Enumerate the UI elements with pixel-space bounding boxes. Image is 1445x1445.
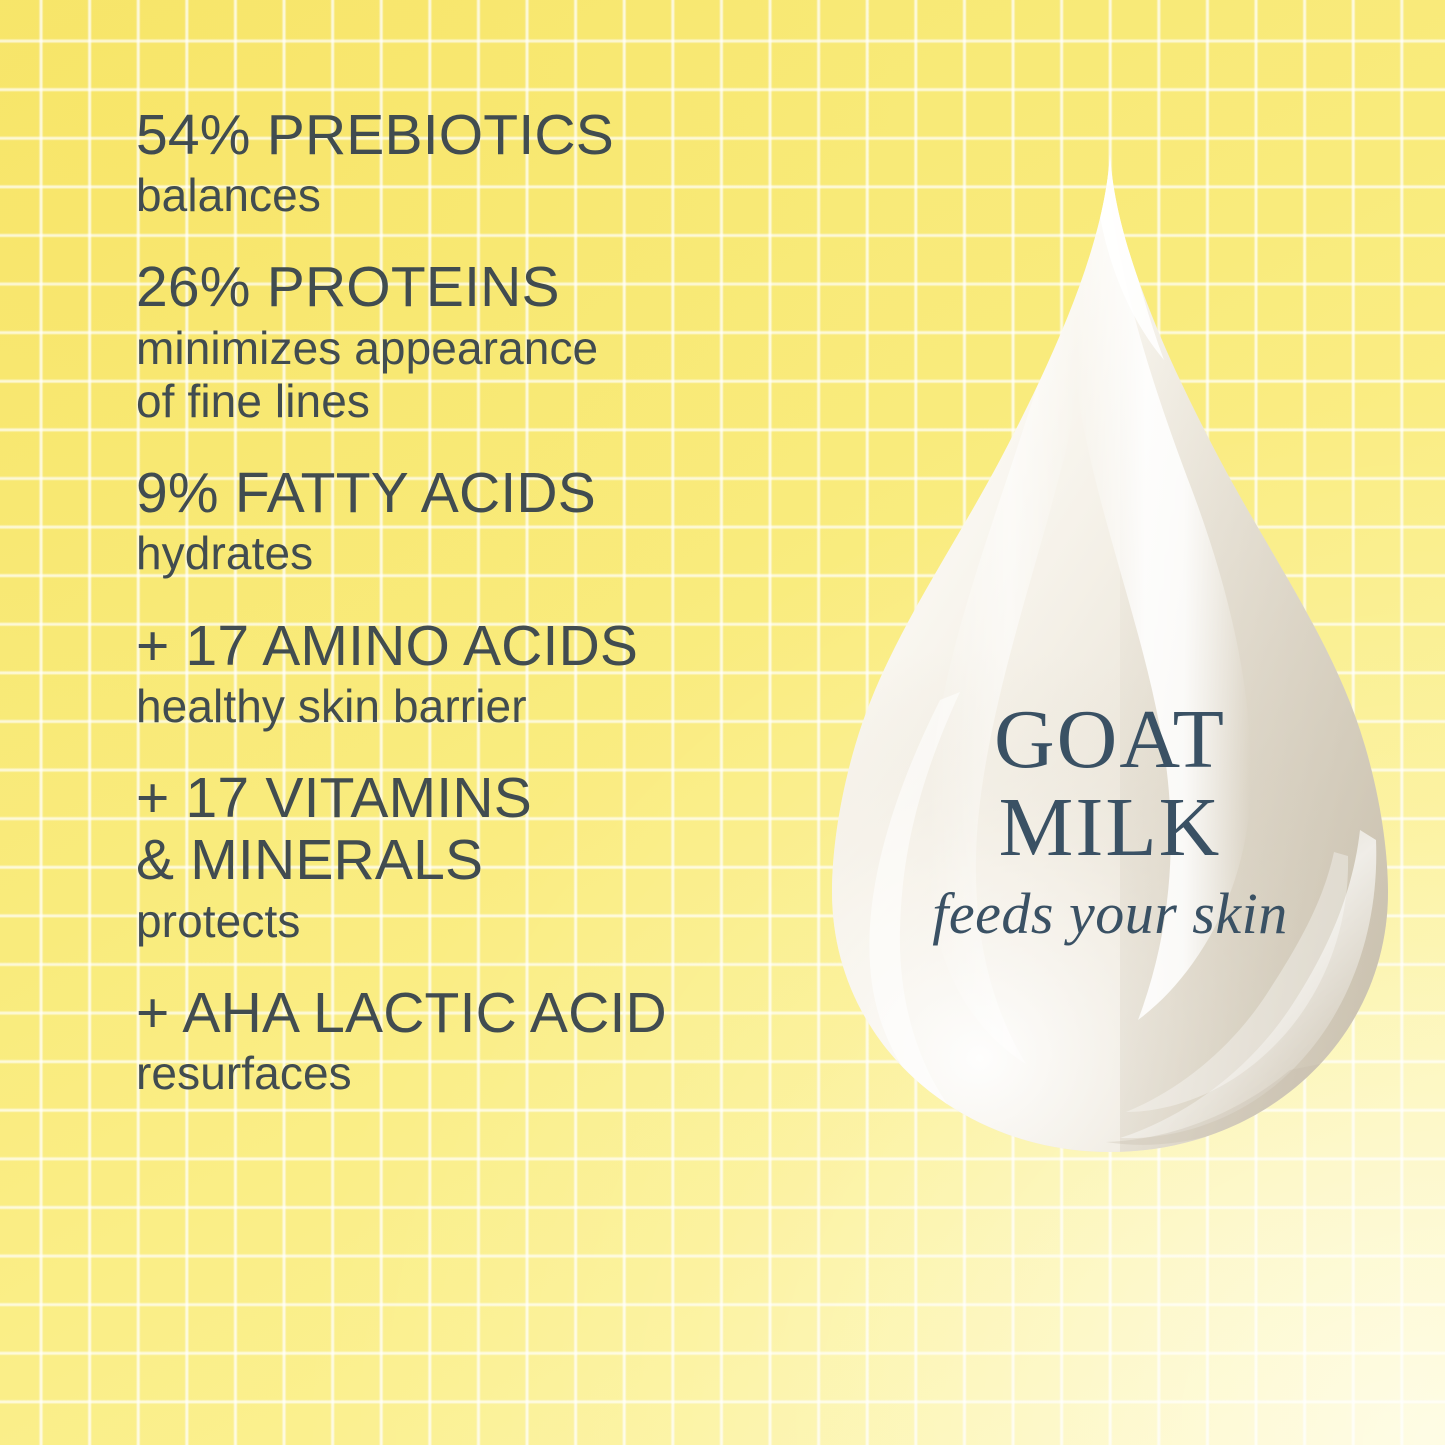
ingredient-benefit: minimizes appearance of fine lines [136, 322, 836, 429]
ingredient-title: + AHA LACTIC ACID [136, 982, 836, 1044]
list-item: + 17 VITAMINS & MINERALS protects [136, 767, 836, 948]
ingredient-title: 26% PROTEINS [136, 256, 836, 318]
list-item: 26% PROTEINS minimizes appearance of fin… [136, 256, 836, 428]
milk-droplet-icon [820, 140, 1400, 1160]
ingredient-benefit-list: 54% PREBIOTICS balances 26% PROTEINS min… [136, 104, 836, 1134]
list-item: 54% PREBIOTICS balances [136, 104, 836, 222]
product-benefits-infographic: 54% PREBIOTICS balances 26% PROTEINS min… [0, 0, 1445, 1445]
list-item: + AHA LACTIC ACID resurfaces [136, 982, 836, 1100]
ingredient-title: 9% FATTY ACIDS [136, 462, 836, 524]
ingredient-benefit: balances [136, 169, 836, 222]
list-item: + 17 AMINO ACIDS healthy skin barrier [136, 615, 836, 733]
ingredient-benefit: resurfaces [136, 1047, 836, 1100]
ingredient-title: + 17 VITAMINS & MINERALS [136, 767, 836, 891]
ingredient-benefit: healthy skin barrier [136, 680, 836, 733]
list-item: 9% FATTY ACIDS hydrates [136, 462, 836, 580]
ingredient-title: 54% PREBIOTICS [136, 104, 836, 166]
ingredient-benefit: hydrates [136, 527, 836, 580]
ingredient-benefit: protects [136, 895, 836, 948]
ingredient-title: + 17 AMINO ACIDS [136, 615, 836, 677]
